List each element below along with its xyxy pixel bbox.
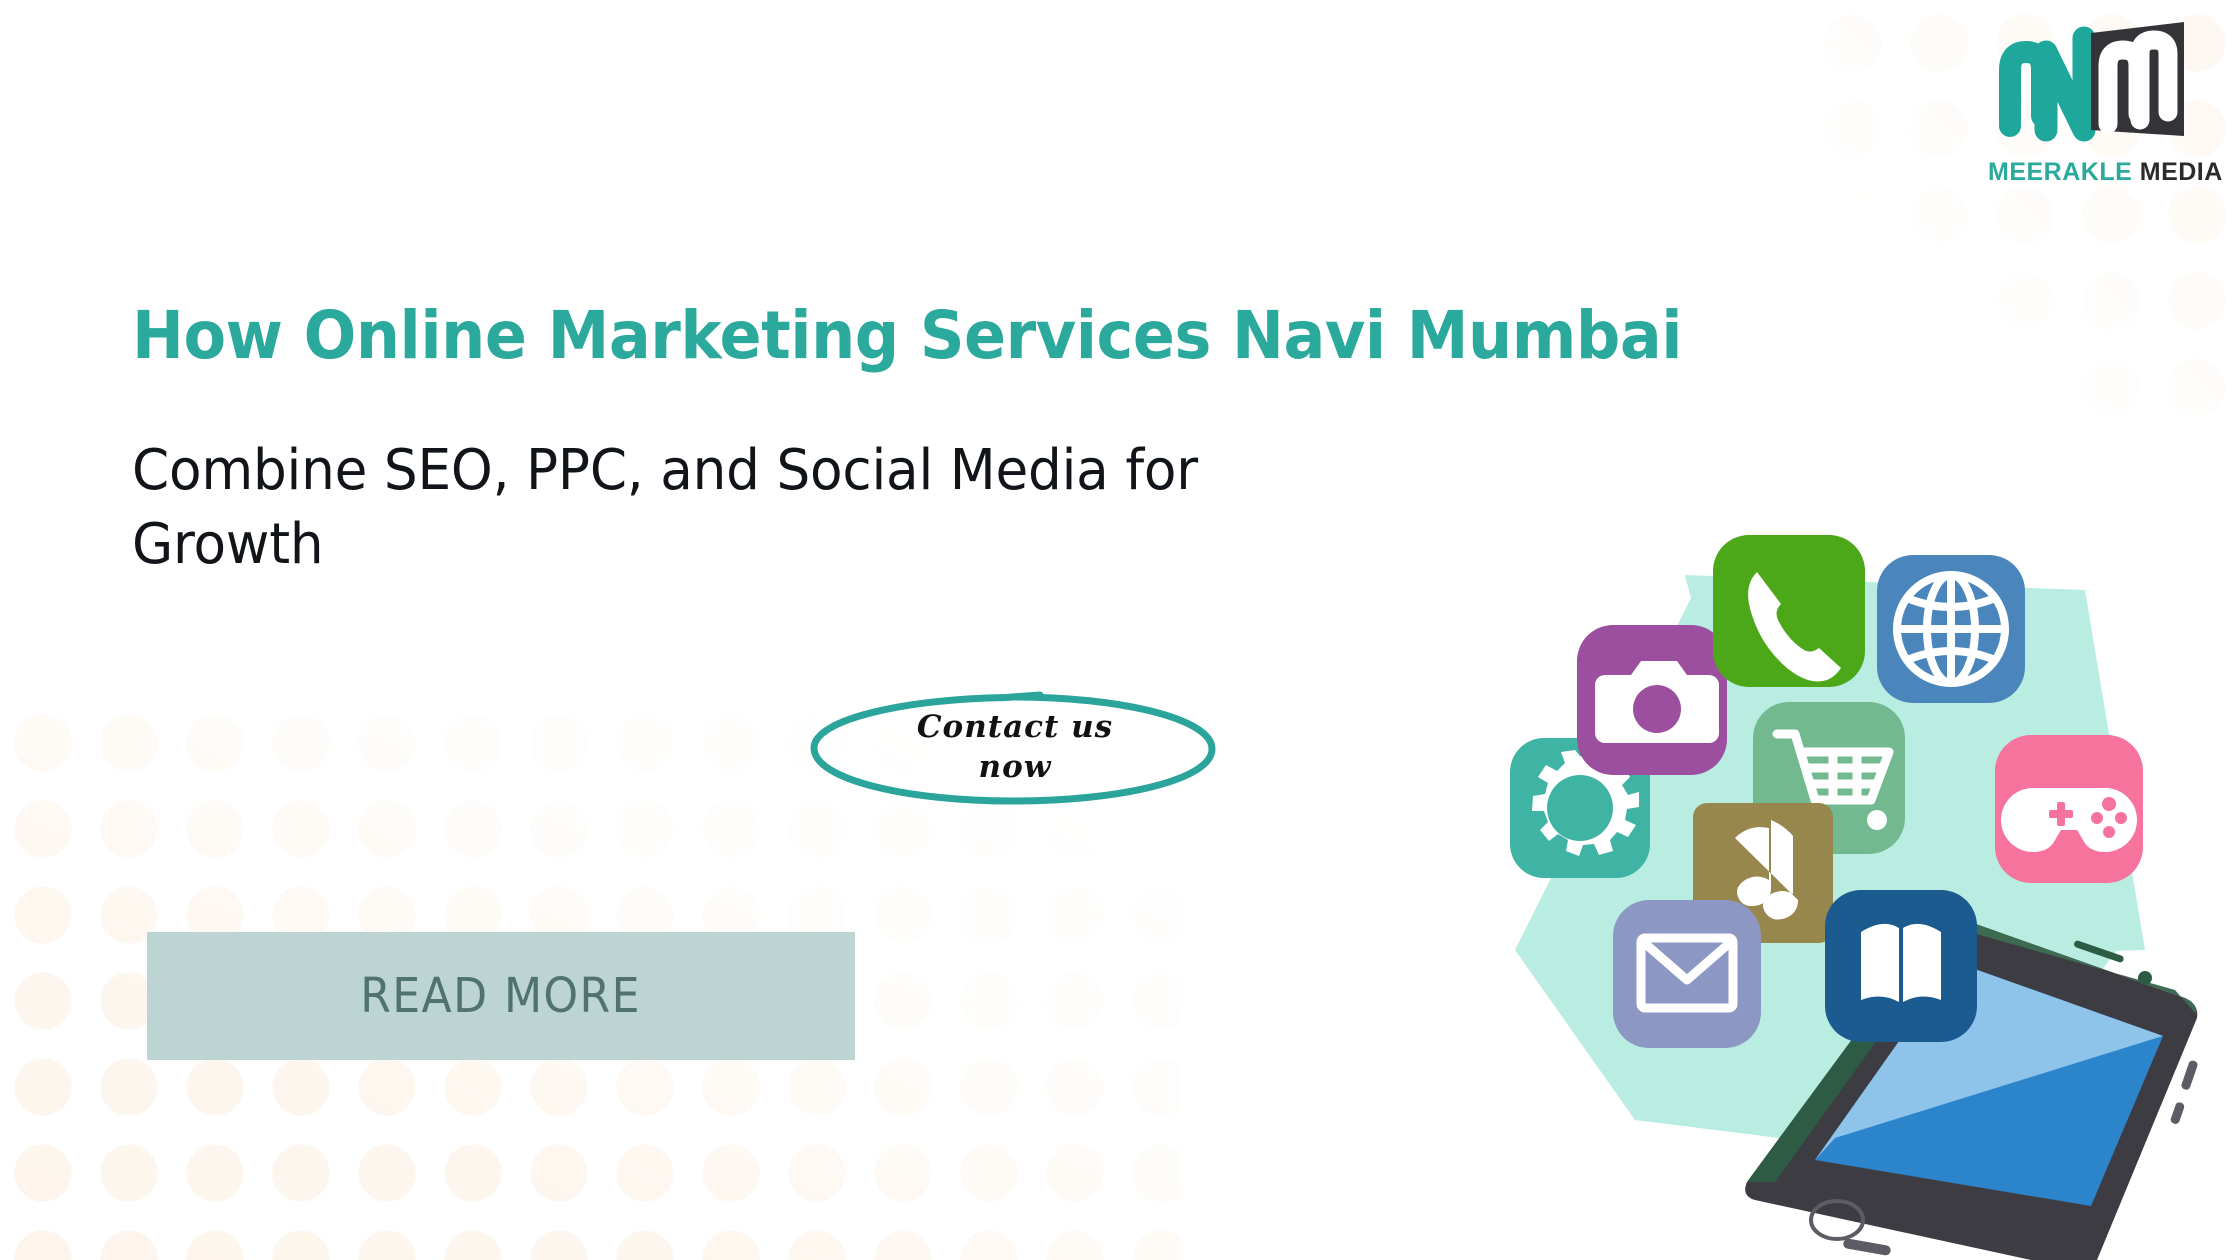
contact-badge-line1: Contact us — [917, 708, 1113, 748]
illustration-svg — [1485, 520, 2240, 1260]
read-more-button[interactable]: READ MORE — [147, 932, 855, 1060]
contact-badge-line2: now — [979, 748, 1052, 788]
page-title: How Online Marketing Services Navi Mumba… — [132, 302, 1824, 371]
promo-slide: MEERAKLE MEDIA How Online Marketing Serv… — [0, 0, 2240, 1260]
gamepad-icon — [1995, 735, 2143, 883]
contact-badge-text: Contact us now — [800, 688, 1230, 808]
phone-icon — [1713, 535, 1865, 687]
app-icons-illustration — [1485, 520, 2240, 1260]
logo-word-secondary: MEDIA — [2140, 158, 2223, 186]
camera-icon — [1577, 625, 1727, 775]
brand-logo[interactable]: MEERAKLE MEDIA — [1988, 8, 2218, 193]
read-more-label: READ MORE — [361, 968, 642, 1024]
logo-mark — [1988, 8, 2218, 158]
logo-word-primary: MEERAKLE — [1988, 158, 2132, 186]
mail-icon — [1613, 900, 1761, 1048]
globe-icon — [1877, 555, 2025, 703]
logo-wordmark: MEERAKLE MEDIA — [1988, 158, 2218, 187]
book-icon — [1825, 890, 1977, 1042]
contact-us-badge[interactable]: Contact us now — [800, 688, 1230, 808]
page-subtitle: Combine SEO, PPC, and Social Media for G… — [132, 434, 1310, 582]
